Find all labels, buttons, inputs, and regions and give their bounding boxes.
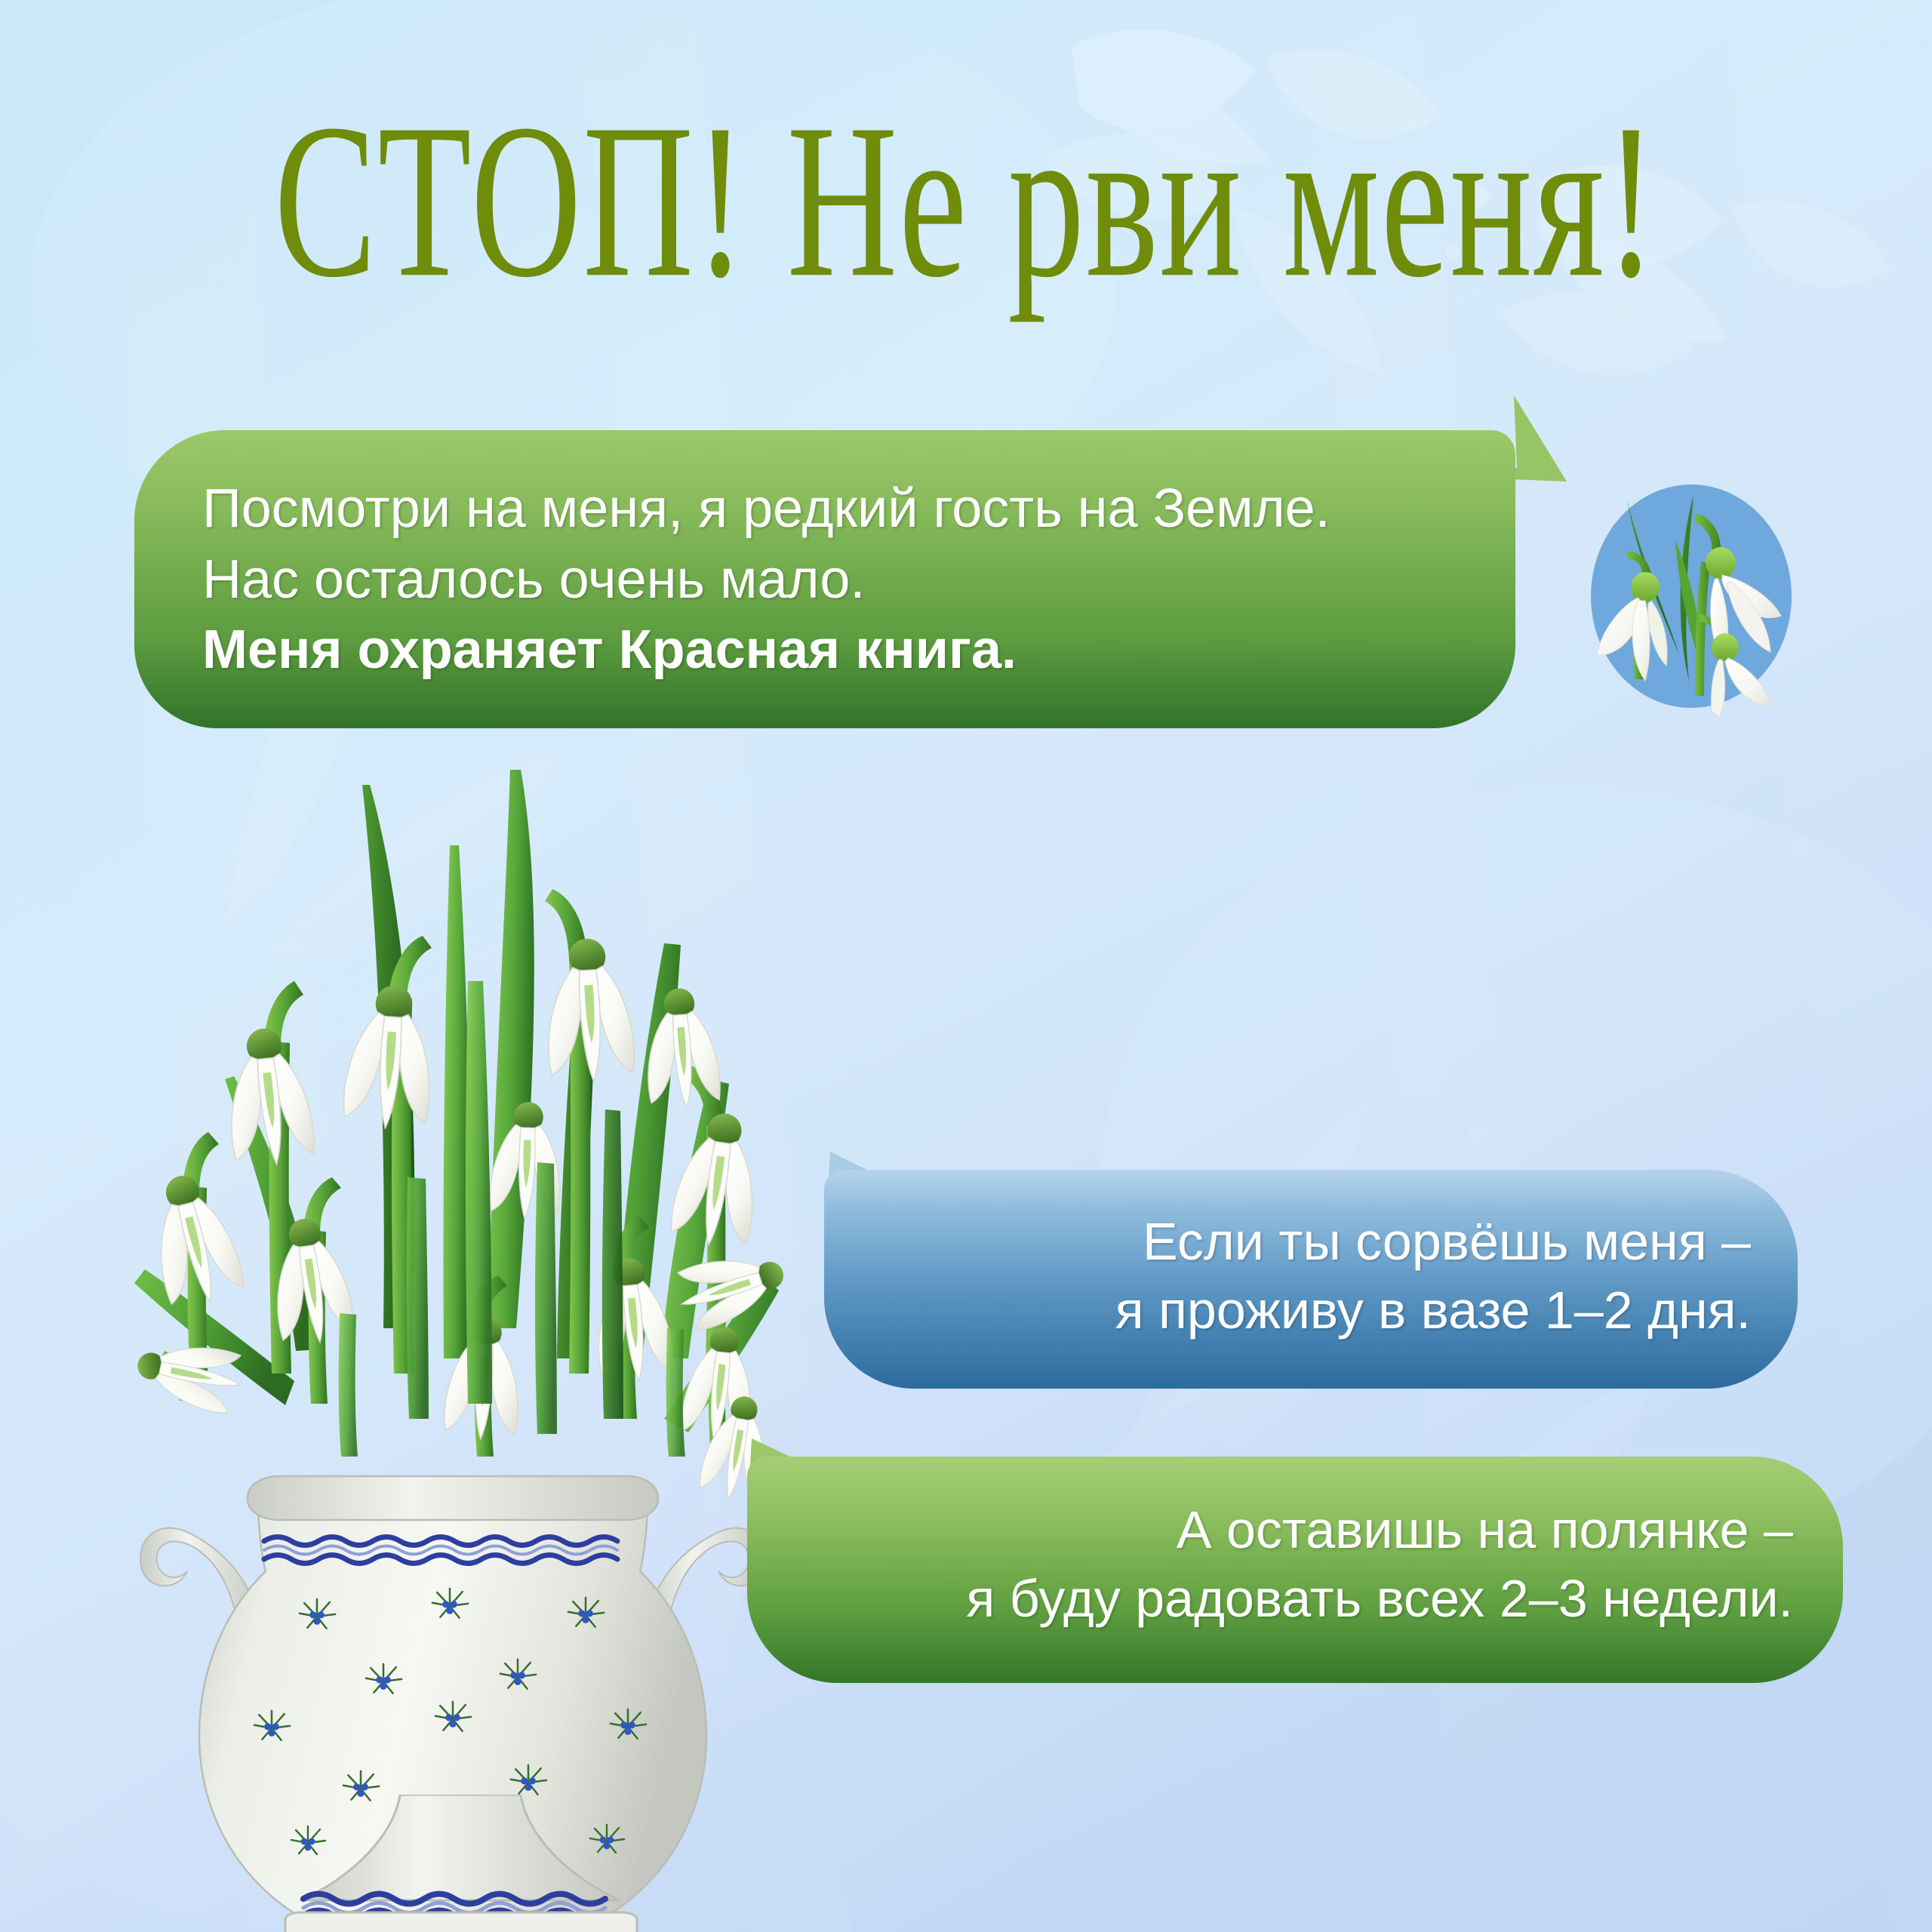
page-title-container: СТОП! Не рви меня! [0,91,1932,278]
meadow-bubble-text: А оставишь на полянке – я буду радовать … [747,1496,1793,1633]
snowdrops-in-vase-illustration [45,755,860,1932]
intro-line-2: Нас осталось очень мало. [202,545,1463,616]
intro-line-1: Посмотри на меня, я редкий гость на Земл… [202,474,1463,545]
vase-bubble-text: Если ты сорвёшь меня – я проживу в вазе … [824,1207,1751,1345]
speech-bubble-vase: Если ты сорвёшь меня – я проживу в вазе … [824,1170,1798,1389]
poster-canvas: СТОП! Не рви меня! Посмотри на меня, я р… [0,0,1932,1932]
intro-line-3: Меня охраняет Красная книга. [202,615,1463,686]
page-title: СТОП! Не рви меня! [274,91,1657,312]
speech-bubble-intro: Посмотри на меня, я редкий гость на Земл… [134,430,1515,728]
snowdrop-avatar-icon [1582,468,1801,717]
speech-bubble-meadow: А оставишь на полянке – я буду радовать … [747,1457,1843,1683]
vase-pedestal-foot [174,1795,747,1932]
